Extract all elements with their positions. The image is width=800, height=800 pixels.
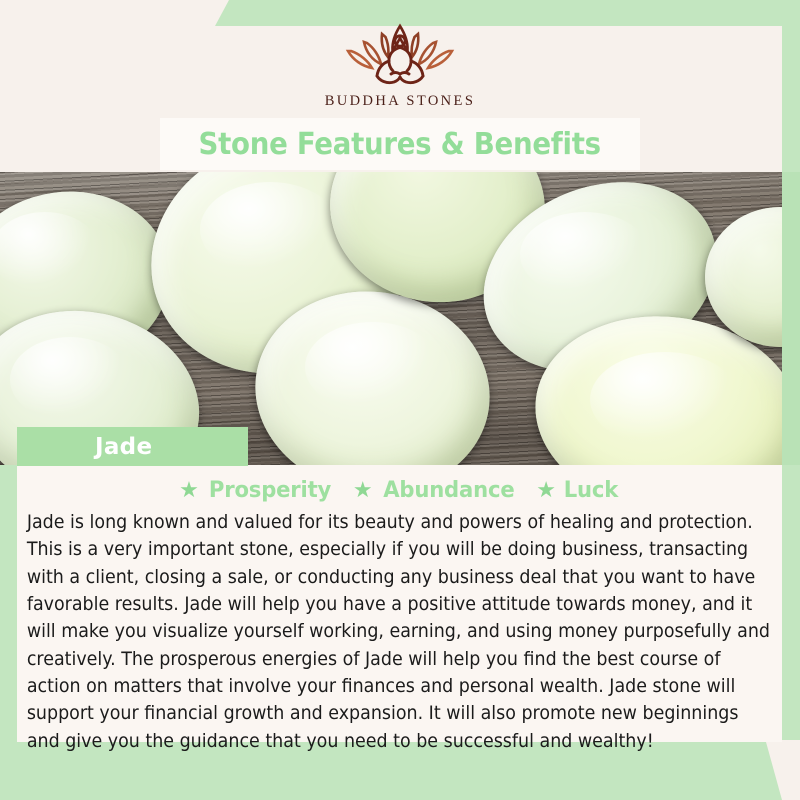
brand-name: BUDDHA STONES <box>325 93 476 110</box>
star-icon: ★ <box>536 479 556 501</box>
brand-logo-block: BUDDHA STONES <box>0 18 800 110</box>
star-icon: ★ <box>179 479 199 501</box>
stone-description: Jade is long known and valued for its be… <box>23 509 774 755</box>
benefit-item: ★ Luck <box>536 477 620 503</box>
star-icon: ★ <box>353 479 373 501</box>
page-title: Stone Features & Benefits <box>199 127 601 162</box>
stone-highlight <box>590 352 740 447</box>
decorative-bar-photo-right <box>782 172 800 465</box>
stone-highlight <box>10 337 130 422</box>
title-banner: Stone Features & Benefits <box>160 118 640 170</box>
benefit-item: ★ Prosperity <box>179 477 335 503</box>
benefit-item: ★ Abundance <box>353 477 518 503</box>
benefit-label: Prosperity <box>209 477 331 503</box>
benefit-label: Luck <box>564 477 618 503</box>
benefit-label: Abundance <box>383 477 514 503</box>
stone-highlight <box>305 322 440 412</box>
stone-highlight <box>520 212 650 297</box>
benefits-list: ★ Prosperity ★ Abundance ★ Luck <box>23 477 776 503</box>
content-panel: ★ Prosperity ★ Abundance ★ Luck Jade is … <box>17 465 782 742</box>
stone-highlight <box>200 182 340 277</box>
lotus-meditation-icon <box>334 18 466 88</box>
infographic-card: BUDDHA STONES Stone Features & Benefits … <box>0 0 800 800</box>
stone-name-band: Jade <box>17 427 248 466</box>
stone-photo <box>0 172 800 465</box>
stone-name-label: Jade <box>95 434 152 460</box>
